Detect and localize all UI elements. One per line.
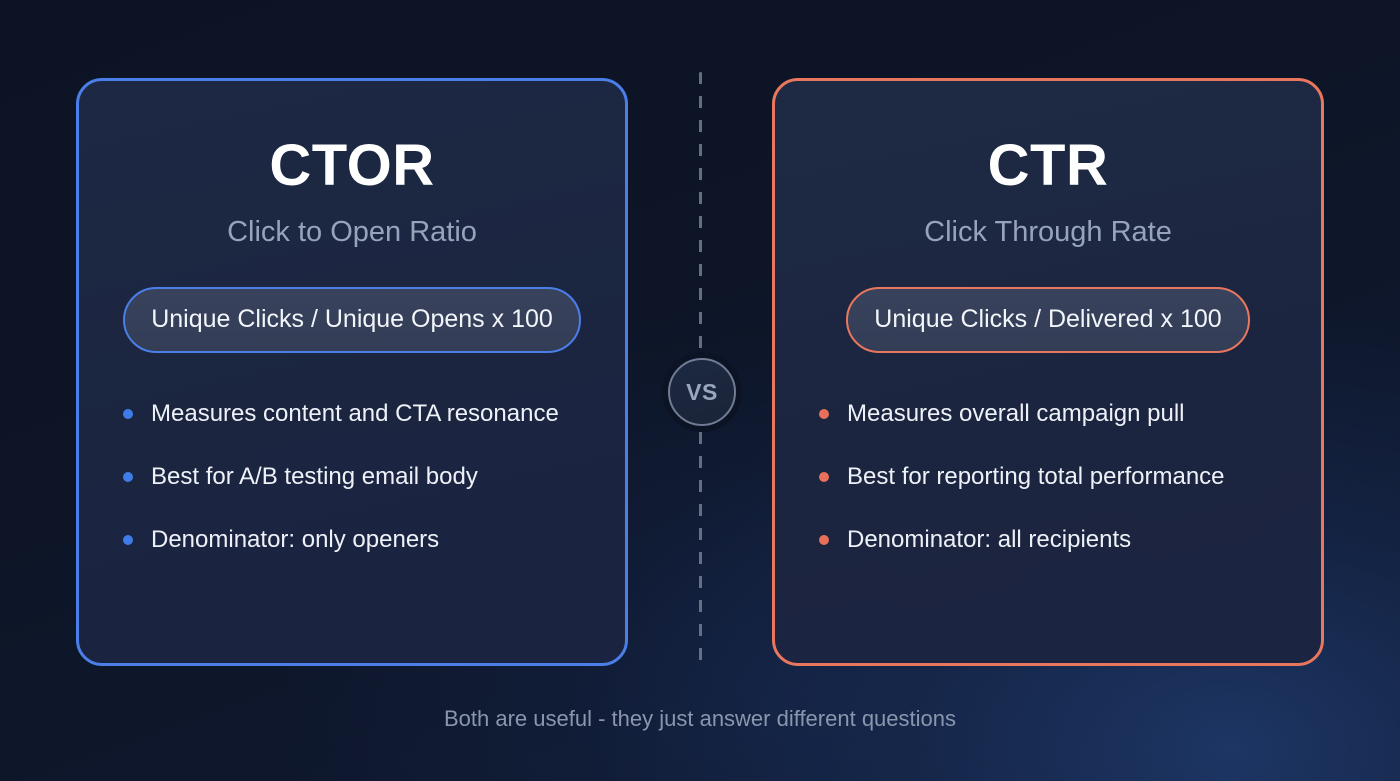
ctor-formula-pill: Unique Clicks / Unique Opens x 100 xyxy=(123,287,581,353)
ctr-formula-wrap: Unique Clicks / Delivered x 100 xyxy=(775,287,1321,353)
ctor-card: CTOR Click to Open Ratio Unique Clicks /… xyxy=(76,78,628,666)
list-item-label: Denominator: all recipients xyxy=(847,526,1131,553)
list-item: Best for A/B testing email body xyxy=(123,460,591,493)
ctr-card: CTR Click Through Rate Unique Clicks / D… xyxy=(772,78,1324,666)
bullet-dot-icon xyxy=(123,409,133,419)
footer-note: Both are useful - they just answer diffe… xyxy=(0,706,1400,732)
ctr-title: CTR xyxy=(775,137,1321,195)
bullet-dot-icon xyxy=(819,472,829,482)
bullet-dot-icon xyxy=(819,535,829,545)
list-item-label: Measures overall campaign pull xyxy=(847,400,1185,427)
bullet-dot-icon xyxy=(819,409,829,419)
ctr-subtitle: Click Through Rate xyxy=(775,217,1321,249)
ctor-formula-wrap: Unique Clicks / Unique Opens x 100 xyxy=(79,287,625,353)
ctr-bullet-list: Measures overall campaign pull Best for … xyxy=(775,397,1321,556)
list-item-label: Best for reporting total performance xyxy=(847,463,1225,490)
list-item-label: Measures content and CTA resonance xyxy=(151,400,559,427)
infographic-canvas: CTOR Click to Open Ratio Unique Clicks /… xyxy=(0,0,1400,781)
list-item: Measures overall campaign pull xyxy=(819,397,1287,430)
ctr-formula-pill: Unique Clicks / Delivered x 100 xyxy=(846,287,1249,353)
vs-badge-label: VS xyxy=(686,381,718,404)
list-item: Denominator: only openers xyxy=(123,523,591,556)
bullet-dot-icon xyxy=(123,535,133,545)
list-item: Measures content and CTA resonance xyxy=(123,397,591,430)
list-item-label: Best for A/B testing email body xyxy=(151,463,478,490)
vs-badge: VS xyxy=(668,358,736,426)
ctor-subtitle: Click to Open Ratio xyxy=(79,217,625,249)
list-item: Denominator: all recipients xyxy=(819,523,1287,556)
ctor-title: CTOR xyxy=(79,137,625,195)
list-item: Best for reporting total performance xyxy=(819,460,1287,493)
ctor-bullet-list: Measures content and CTA resonance Best … xyxy=(79,397,625,556)
bullet-dot-icon xyxy=(123,472,133,482)
list-item-label: Denominator: only openers xyxy=(151,526,439,553)
